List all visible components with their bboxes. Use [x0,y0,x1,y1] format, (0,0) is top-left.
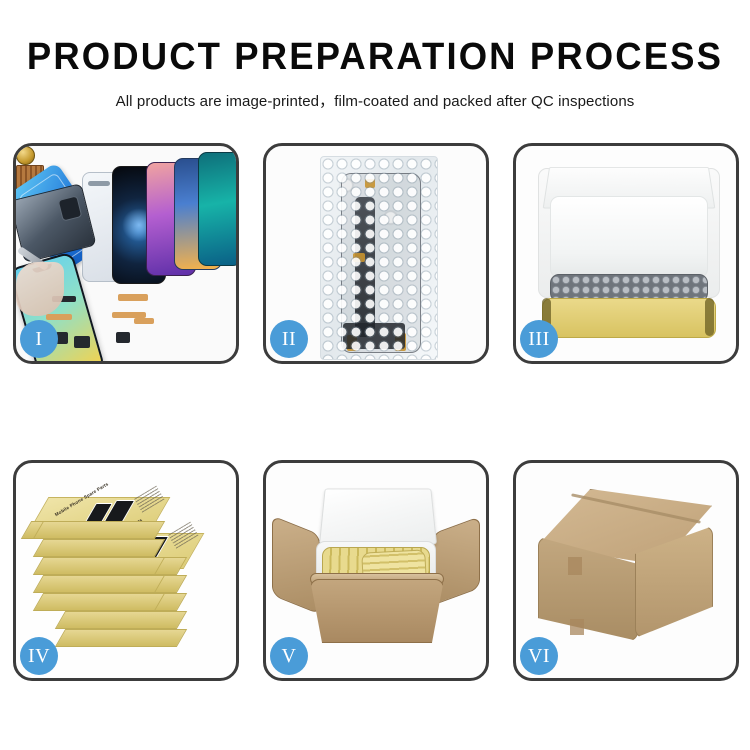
step-panel-3: III [513,143,739,364]
flex-cable-4 [134,318,154,324]
packing-tape-lower [570,619,584,635]
box-corner-right [705,298,714,336]
small-part-4 [116,332,130,343]
bubble-texture [321,157,437,359]
camera-lens-part [16,146,35,165]
step-panel-1: I [13,143,239,364]
product-preparation-infographic: PRODUCT PREPARATION PROCESS All products… [0,0,750,750]
step-panel-6: VI [513,460,739,681]
box-side-face [33,557,165,575]
step-badge-5: V [270,637,308,675]
step-badge-6: VI [520,637,558,675]
box-side-face [33,593,165,611]
page-subtitle: All products are image-printed，film-coat… [4,78,747,111]
box-side-face [33,539,165,557]
step-badge-4: IV [20,637,58,675]
steps-grid: I II [13,143,740,681]
yellow-box-front [542,298,716,338]
page-title: PRODUCT PREPARATION PROCESS [15,0,735,78]
header: PRODUCT PREPARATION PROCESS All products… [0,0,750,111]
step-badge-3: III [520,320,558,358]
box-side-face [55,629,187,647]
carton-flap-left [272,515,320,614]
carton-front-face [310,579,444,643]
phone-teal-gradient [198,152,236,266]
step-badge-1: I [20,320,58,358]
step-panel-5: V [263,460,489,681]
bubble-wrap-bag [320,156,438,360]
box-side-face [33,521,165,539]
step-badge-2: II [270,320,308,358]
white-foam-sheet [550,196,708,278]
step-panel-4: Mobile Phone Spare Parts Mobile Phone Sp… [13,460,239,681]
small-part-3 [74,336,90,348]
hand-holding-chassis [16,262,64,316]
packing-tape-upper [568,557,582,575]
flex-cable-1 [118,294,148,301]
foam-lid-open [319,489,437,545]
step-panel-2: II [263,143,489,364]
flex-cable-3 [46,314,72,320]
box-side-face [55,611,187,629]
box-side-face [33,575,165,593]
